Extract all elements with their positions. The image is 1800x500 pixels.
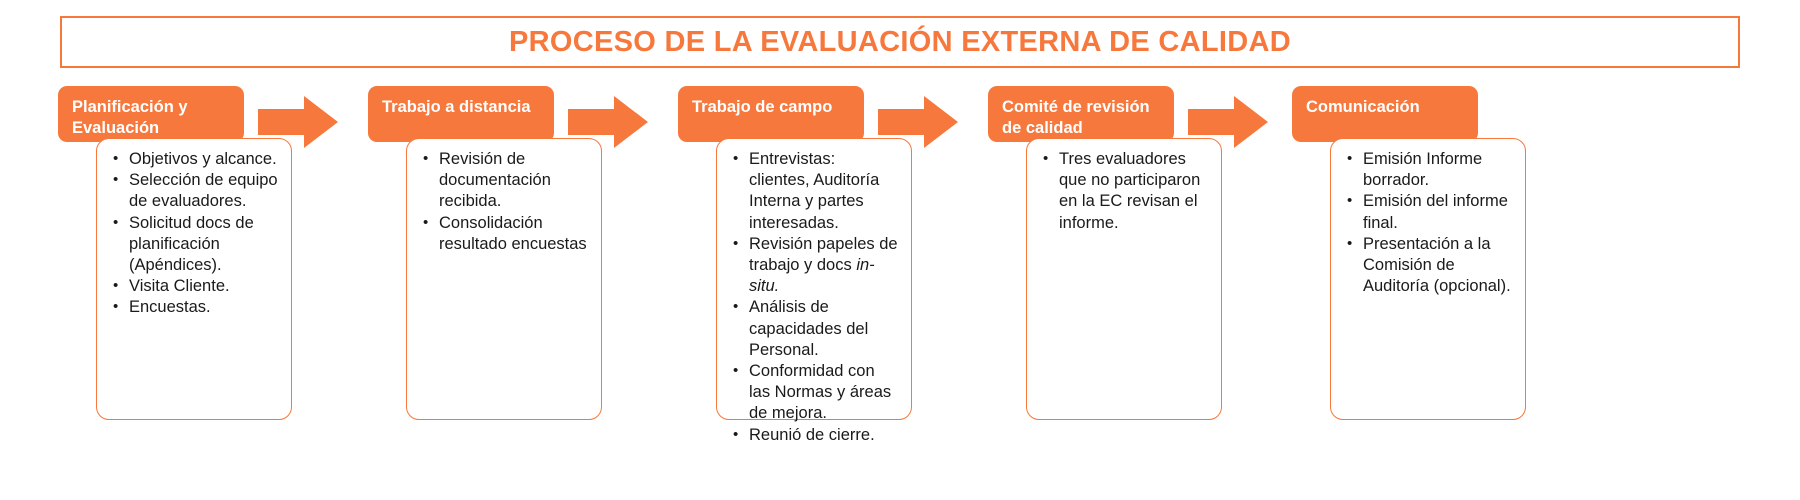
list-item: Visita Cliente.	[129, 276, 279, 297]
stage-4-body: Tres evaluadores que no participaron en …	[1026, 138, 1222, 420]
diagram-canvas: PROCESO DE LA EVALUACIÓN EXTERNA DE CALI…	[0, 0, 1800, 500]
stage-3-header[interactable]: Trabajo de campo	[678, 86, 864, 142]
list-item: Emisión Informe borrador.	[1363, 149, 1513, 191]
stage-3-list: Entrevistas: clientes, Auditoría Interna…	[727, 149, 899, 446]
stage-1-header[interactable]: Planificación y Evaluación preliminar	[58, 86, 244, 142]
stage-5-body: Emisión Informe borrador. Emisión del in…	[1330, 138, 1526, 420]
stage-5-header[interactable]: Comunicación	[1292, 86, 1478, 142]
diagram-title-banner: PROCESO DE LA EVALUACIÓN EXTERNA DE CALI…	[60, 16, 1740, 68]
stage-5-list: Emisión Informe borrador. Emisión del in…	[1341, 149, 1513, 297]
list-item: Entrevistas: clientes, Auditoría Interna…	[749, 149, 899, 234]
stage-2-body: Revisión de documentación recibida. Cons…	[406, 138, 602, 420]
stage-4-header-line1: Comité de revisión	[1002, 97, 1160, 118]
diagram-title-text: PROCESO DE LA EVALUACIÓN EXTERNA DE CALI…	[509, 26, 1291, 59]
stage-2-list: Revisión de documentación recibida. Cons…	[417, 149, 589, 255]
stage-5-header-line1: Comunicación	[1306, 97, 1464, 118]
list-item: Emisión del informe final.	[1363, 191, 1513, 233]
list-item: Encuestas.	[129, 297, 279, 318]
list-item: Selección de equipo de evaluadores.	[129, 170, 279, 212]
stage-2-header-line1: Trabajo a distancia	[382, 97, 540, 118]
list-item: Revisión papeles de trabajo y docs in-si…	[749, 234, 899, 298]
list-item: Presentación a la Comisión de Auditoría …	[1363, 234, 1513, 298]
list-item: Objetivos y alcance.	[129, 149, 279, 170]
list-item: Revisión de documentación recibida.	[439, 149, 589, 213]
list-item-text-prefix: Revisión papeles de trabajo y docs	[749, 235, 898, 274]
stage-4-header[interactable]: Comité de revisión de calidad	[988, 86, 1174, 142]
stage-4-list: Tres evaluadores que no participaron en …	[1037, 149, 1209, 234]
stage-3-body: Entrevistas: clientes, Auditoría Interna…	[716, 138, 912, 420]
stage-1-list: Objetivos y alcance. Selección de equipo…	[107, 149, 279, 319]
list-item: Tres evaluadores que no participaron en …	[1059, 149, 1209, 234]
stage-1-header-line1: Planificación y	[72, 97, 230, 118]
list-item: Análisis de capacidades del Personal.	[749, 297, 899, 361]
stage-1-body: Objetivos y alcance. Selección de equipo…	[96, 138, 292, 420]
list-item: Consolidación resultado encuestas	[439, 213, 589, 255]
stage-3-header-line1: Trabajo de campo	[692, 97, 850, 118]
list-item: Conformidad con las Normas y áreas de me…	[749, 361, 899, 425]
stage-2-header[interactable]: Trabajo a distancia	[368, 86, 554, 142]
list-item: Reunió de cierre.	[749, 425, 899, 446]
stage-4-header-line2: de calidad	[1002, 118, 1160, 139]
list-item: Solicitud docs de planificación (Apéndic…	[129, 213, 279, 277]
